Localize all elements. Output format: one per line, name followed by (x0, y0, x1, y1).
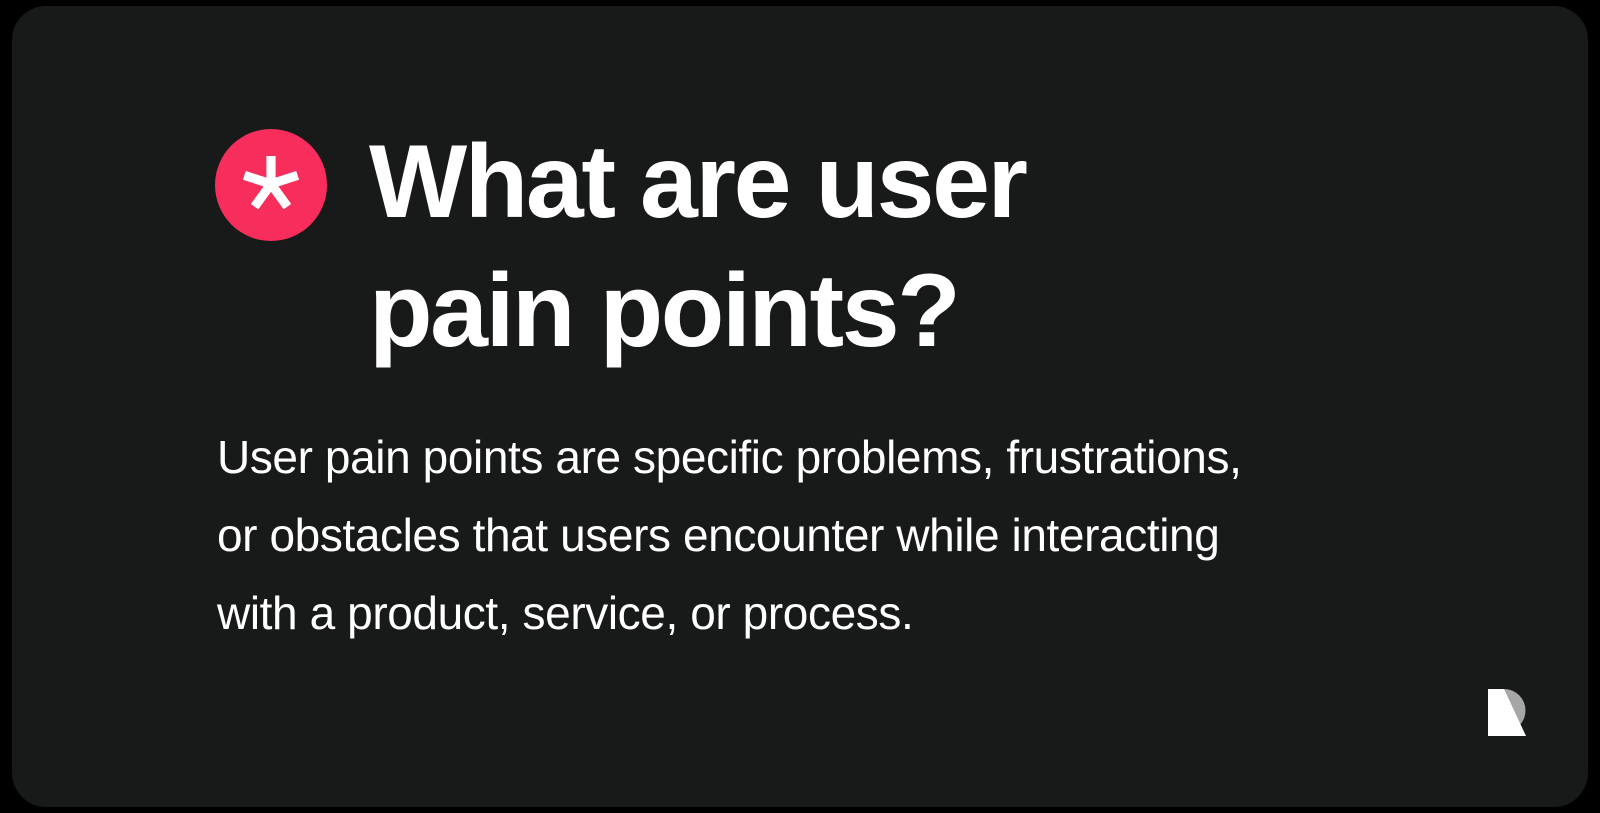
heading-row: What are user pain points? (215, 118, 1026, 376)
body-line-3: with a product, service, or process. (217, 574, 1397, 652)
body-line-1: User pain points are specific problems, … (217, 418, 1397, 496)
brand-logo (1464, 678, 1532, 746)
body-line-2: or obstacles that users encounter while … (217, 496, 1397, 574)
body-description: User pain points are specific problems, … (217, 418, 1397, 652)
r-logo-icon (1464, 678, 1532, 746)
asterisk-badge (215, 129, 327, 241)
page-title: What are user pain points? (369, 118, 1026, 376)
asterisk-icon (236, 150, 306, 220)
content-card: What are user pain points? User pain poi… (12, 6, 1588, 807)
